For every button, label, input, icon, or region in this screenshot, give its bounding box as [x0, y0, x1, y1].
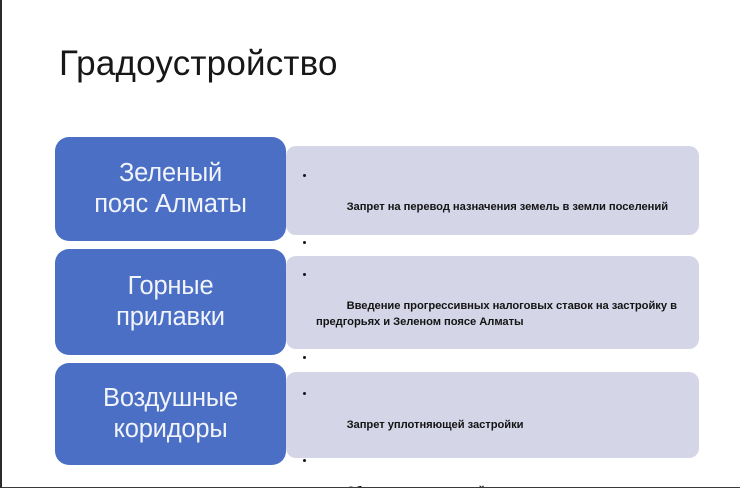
bullet-dot-icon — [303, 241, 306, 244]
detail-panel-3: Запрет уплотняющей застройки Обновление … — [286, 372, 699, 458]
bullet-list: Запрет уплотняющей застройки Обновление … — [302, 386, 685, 488]
list-item: Запрет уплотняющей застройки — [302, 386, 685, 450]
detail-panel-2: Введение прогрессивных налоговых ставок … — [286, 256, 699, 349]
list-item: Запрет на перевод назначения земель в зе… — [302, 168, 685, 232]
bullet-dot-icon — [303, 174, 306, 177]
category-chip-2[interactable]: Горные прилавки — [55, 249, 286, 355]
category-chip-label: Воздушные коридоры — [95, 383, 246, 445]
slide-canvas: Градоустройство Зеленый пояс Алматы Запр… — [0, 0, 740, 488]
list-item: Введение прогрессивных налоговых ставок … — [302, 267, 685, 347]
bullet-dot-icon — [303, 356, 306, 359]
list-item-text: Введение прогрессивных налоговых ставок … — [316, 300, 680, 328]
list-item-text: Запрет уплотняющей застройки — [347, 419, 524, 431]
bullet-dot-icon — [303, 459, 306, 462]
category-chip-label: Горные прилавки — [108, 271, 233, 333]
list-item-text: Запрет на перевод назначения земель в зе… — [347, 201, 668, 213]
bullet-dot-icon — [303, 273, 306, 276]
category-chip-1[interactable]: Зеленый пояс Алматы — [55, 137, 286, 241]
category-chip-label: Зеленый пояс Алматы — [86, 158, 254, 220]
bullet-dot-icon — [303, 392, 306, 395]
category-chip-3[interactable]: Воздушные коридоры — [55, 363, 286, 465]
list-item: Обновление насаждений в зеленых зонах — [302, 453, 685, 488]
detail-panel-1: Запрет на перевод назначения земель в зе… — [286, 146, 699, 235]
page-title: Градоустройство — [59, 46, 338, 83]
